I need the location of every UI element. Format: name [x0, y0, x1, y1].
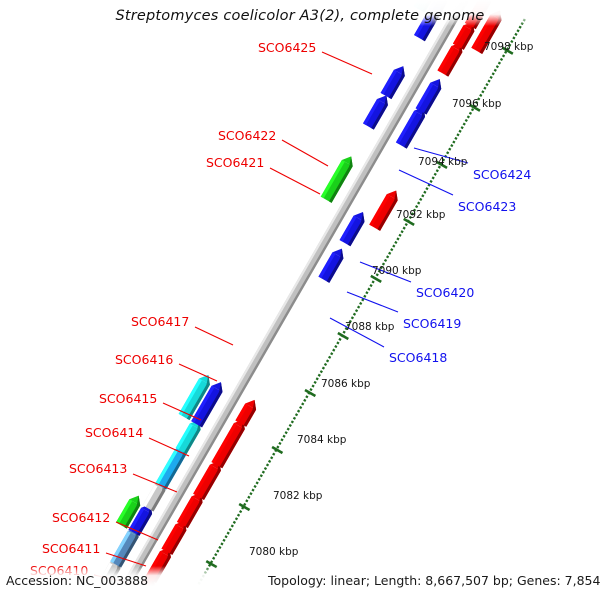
axis-tick-label: 7092 kbp — [396, 209, 445, 221]
gene-label-sco6425[interactable]: SCO6425 — [258, 40, 316, 55]
gene-label-sco6417[interactable]: SCO6417 — [131, 314, 189, 329]
leader-line — [149, 438, 189, 456]
axis-tick-label: 7094 kbp — [418, 156, 467, 168]
leader-line — [270, 168, 320, 194]
gene-label-sco6416[interactable]: SCO6416 — [115, 352, 173, 367]
leader-line — [347, 292, 398, 312]
gene-label-sco6419[interactable]: SCO6419 — [403, 316, 461, 331]
leader-line — [133, 474, 177, 492]
gene-label-sco6421[interactable]: SCO6421 — [206, 155, 264, 170]
leader-line — [195, 327, 233, 345]
gene-label-sco6420[interactable]: SCO6420 — [416, 285, 474, 300]
gene-label-sco6422[interactable]: SCO6422 — [218, 128, 276, 143]
leader-line — [106, 553, 146, 566]
gene-label-sco6411[interactable]: SCO6411 — [42, 541, 100, 556]
accession-text: Accession: NC_003888 — [6, 573, 148, 588]
gene-label-sco6413[interactable]: SCO6413 — [69, 461, 127, 476]
gene-label-sco6418[interactable]: SCO6418 — [389, 350, 447, 365]
axis-tick-label: 7096 kbp — [452, 98, 501, 110]
gene-label-sco6414[interactable]: SCO6414 — [85, 425, 143, 440]
genome-summary-text: Topology: linear; Length: 8,667,507 bp; … — [268, 573, 600, 588]
axis-tick-label: 7082 kbp — [273, 490, 322, 502]
axis-tick-label: 7084 kbp — [297, 434, 346, 446]
axis-tick-label: 7080 kbp — [249, 546, 298, 558]
axis-tick-label: 7088 kbp — [345, 321, 394, 333]
axis-tick-label: 7086 kbp — [321, 378, 370, 390]
leader-line — [116, 522, 158, 540]
leader-line — [322, 52, 372, 74]
gene-label-sco6412[interactable]: SCO6412 — [52, 510, 110, 525]
axis-tick-label: 7090 kbp — [372, 265, 421, 277]
leader-line — [179, 364, 217, 381]
page-title: Streptomyces coelicolor A3(2), complete … — [0, 8, 600, 24]
gene-label-sco6424[interactable]: SCO6424 — [473, 167, 531, 182]
genome-map-canvas: Streptomyces coelicolor A3(2), complete … — [0, 0, 600, 600]
gene-label-sco6415[interactable]: SCO6415 — [99, 391, 157, 406]
axis-tick-label: 7098 kbp — [484, 41, 533, 53]
leader-line — [399, 170, 453, 195]
leader-line — [163, 403, 201, 420]
gene-label-sco6423[interactable]: SCO6423 — [458, 199, 516, 214]
leader-line — [282, 140, 328, 166]
